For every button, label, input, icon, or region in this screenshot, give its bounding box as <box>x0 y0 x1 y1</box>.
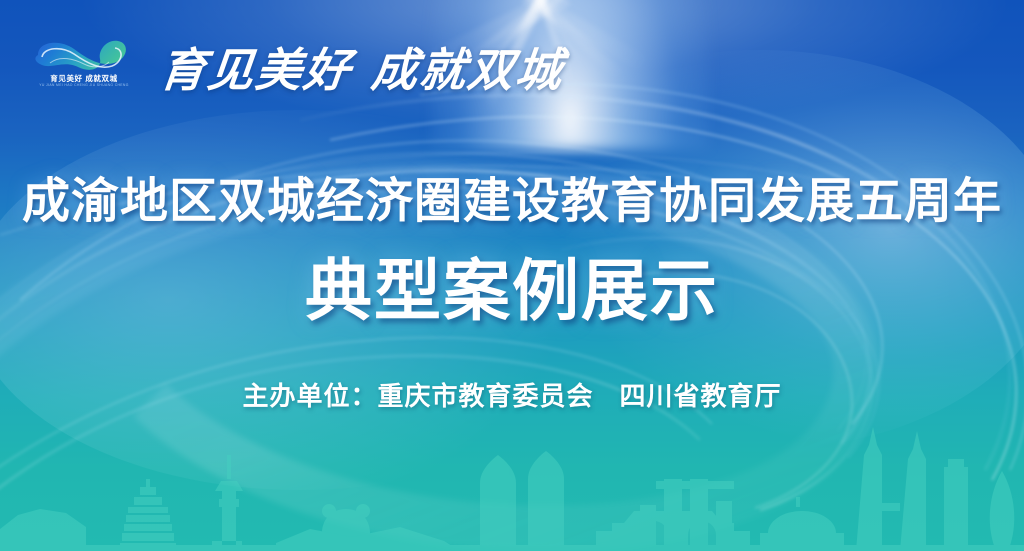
page-title-line1: 成渝地区双城经济圈建设教育协同发展五周年 <box>0 161 1024 231</box>
logo-slogan-en: YU JIAN MEI HAO CHENG JIU SHUANG CHENG <box>30 83 138 88</box>
wordmark-part1: 育见美好 <box>157 34 356 100</box>
organizer-line: 主办单位：重庆市教育委员会四川省教育厅 <box>0 376 1024 413</box>
calligraphy-wordmark: 育见美好 成就双城 <box>160 36 564 98</box>
organizer-org2: 四川省教育厅 <box>620 381 782 411</box>
poster-canvas: 育见美好 成就双城 YU JIAN MEI HAO CHENG JIU SHUA… <box>0 0 1024 551</box>
organizer-org1: 重庆市教育委员会 <box>377 381 593 411</box>
infinity-ribbon-icon <box>30 33 138 77</box>
page-title-line2: 典型案例展示 <box>0 237 1024 334</box>
city-skyline-silhouette <box>0 411 1024 551</box>
organizer-label: 主办单位： <box>242 381 377 411</box>
wordmark-part2: 成就双城 <box>369 34 568 100</box>
event-logo: 育见美好 成就双城 YU JIAN MEI HAO CHENG JIU SHUA… <box>30 33 138 93</box>
